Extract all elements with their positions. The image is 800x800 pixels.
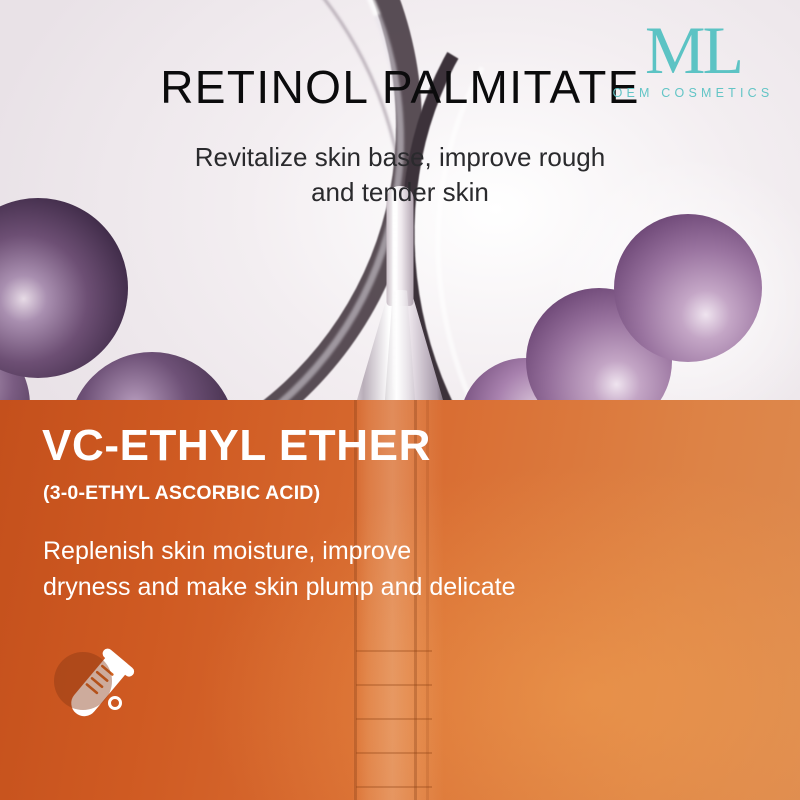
description-line-2: dryness and make skin plump and delicate <box>43 570 516 606</box>
logo-subtitle: OEM COSMETICS <box>600 86 786 100</box>
vc-ethyl-ether-description: Replenish skin moisture, improve dryness… <box>43 534 516 605</box>
icon-backdrop-circle <box>54 652 112 710</box>
product-ingredient-poster: RETINOL PALMITATE Revitalize skin base, … <box>0 0 800 800</box>
retinol-subtitle: Revitalize skin base, improve rough and … <box>0 140 800 211</box>
purple-sphere-right-top <box>614 214 762 362</box>
retinol-subtitle-line-1: Revitalize skin base, improve rough <box>0 140 800 175</box>
cylinder-tick <box>356 718 432 720</box>
pipette-highlight <box>393 190 398 390</box>
cylinder-tick <box>356 650 432 652</box>
description-line-1: Replenish skin moisture, improve <box>43 534 516 570</box>
cylinder-tick <box>356 684 432 686</box>
logo-monogram: ML <box>600 18 786 83</box>
chemical-name-label: (3-0-ETHYL ASCORBIC ACID) <box>43 482 320 505</box>
vc-ethyl-ether-title: VC-ETHYL ETHER <box>42 423 431 469</box>
cylinder-tick <box>356 752 432 754</box>
brand-logo[interactable]: ML OEM COSMETICS <box>600 18 786 100</box>
retinol-subtitle-line-2: and tender skin <box>0 175 800 210</box>
glass-pipette <box>340 186 460 402</box>
test-tube-icon <box>46 648 138 740</box>
cylinder-tick <box>356 786 432 788</box>
